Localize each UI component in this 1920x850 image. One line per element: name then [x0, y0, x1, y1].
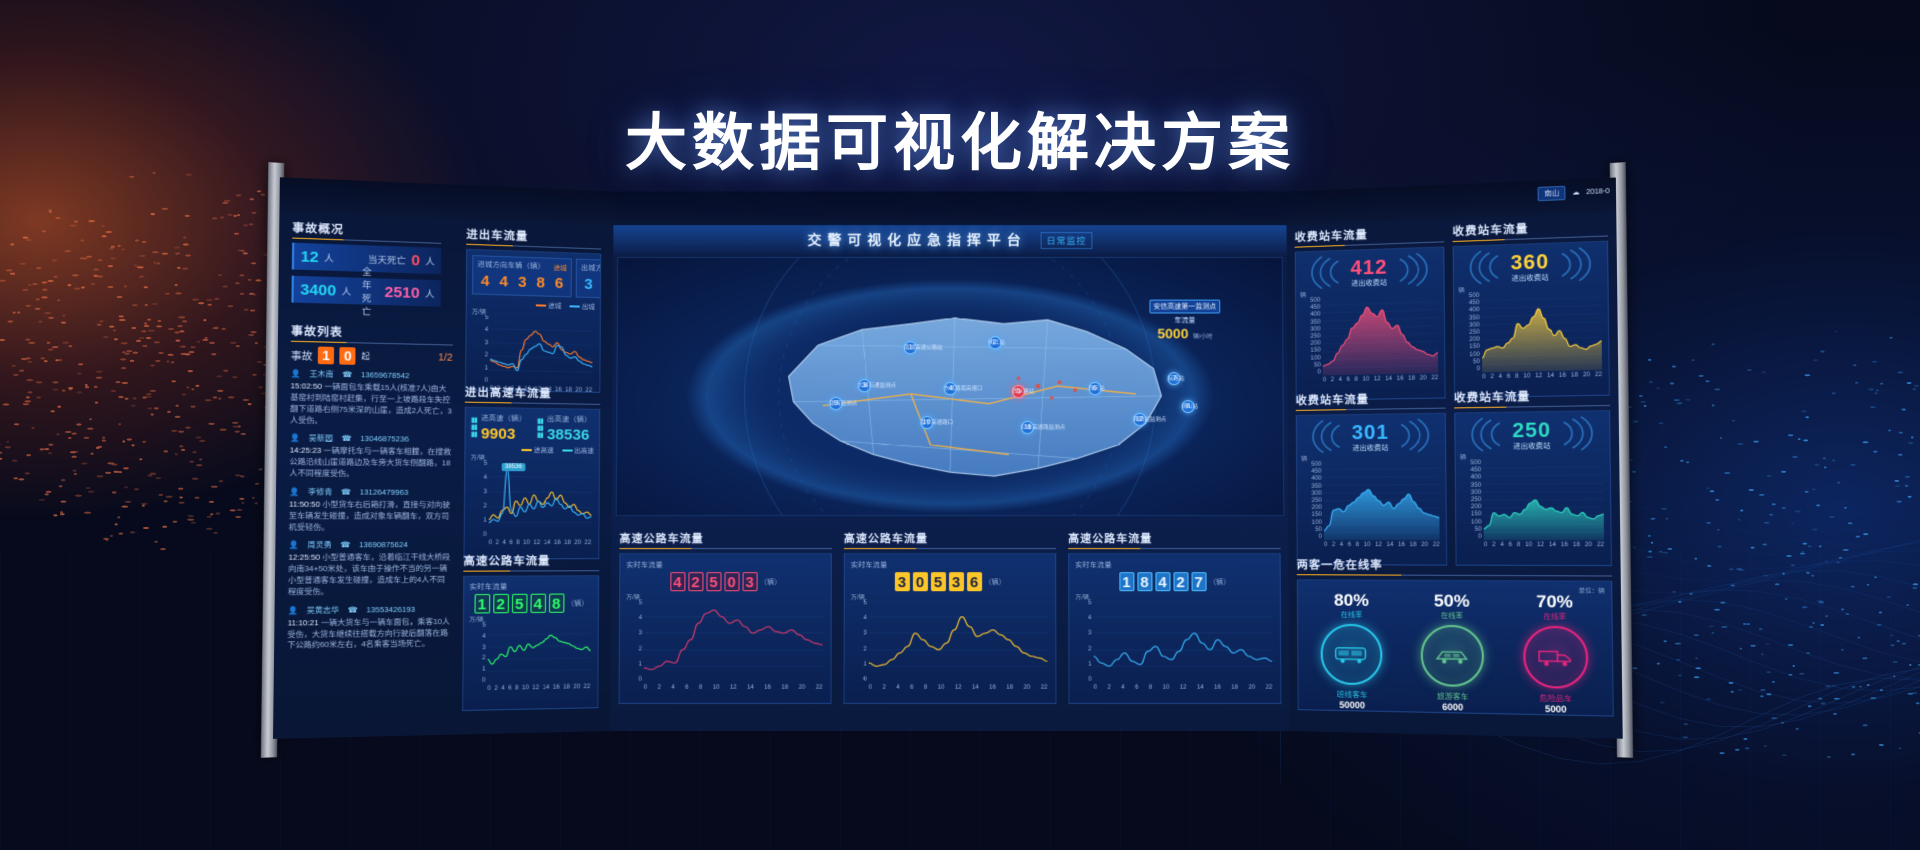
- toll-1-xtick-11: 22: [1595, 372, 1602, 382]
- accident-item-phone-icon-4: ☎: [348, 605, 358, 616]
- inout-legend-0: 进城: [536, 299, 562, 310]
- panel-highway-flow-2: 高速公路车流量 实时车流量 30536 （辆） 万/辆 543210 02468…: [844, 530, 1057, 704]
- toll-3-ytick-1: 450: [1460, 467, 1481, 473]
- highway-flow-0-sub: 实时车流量: [469, 581, 593, 592]
- toll-1-xticks: 0246810121416182022: [1482, 372, 1602, 385]
- panel-highway-inout: 进出高速车流量 ▮▮▮▮▮▮ 进高速（辆） 9903 ▮▮▮▮▮▮ 出高速（辆）…: [463, 383, 600, 559]
- highway-flow-2-unit: （辆）: [985, 577, 1006, 587]
- accident-list-pager[interactable]: 1/2: [438, 352, 453, 363]
- toll-3-ytick-5: 250: [1460, 497, 1481, 503]
- hwf-0-xtick-0: 0: [487, 686, 491, 696]
- hwf-1-xtick-2: 4: [671, 685, 674, 695]
- accident-item-time-3: 12:25:50: [288, 553, 320, 562]
- accident-list-item-4[interactable]: 👤 吴黄志华 ☎ 13553426193 11:10:21 一辆大货车与一辆车面…: [287, 604, 450, 652]
- online-rate-item-2: 70% 在线率 危险品车 5000: [1522, 592, 1588, 715]
- online-rate-unit-note: 单位：辆: [1579, 586, 1605, 596]
- toll-2-sonar-arcs: [1309, 418, 1433, 454]
- highway-flow-1-unit: （辆）: [760, 577, 781, 587]
- accident-item-name-3: 周灵勇: [307, 540, 331, 551]
- toll-0-xtick-0: 0: [1323, 377, 1326, 387]
- online-rate-item-0: 80% 在线率 班线客车 50000: [1321, 590, 1384, 710]
- highway-flow-0-chart: 万/辆 543210 0246810121416182022: [469, 615, 593, 696]
- page-title: 大数据可视化解决方案: [0, 92, 1920, 182]
- highway-flow-0-digit-0: 1: [474, 594, 490, 614]
- toll-2-xtick-6: 12: [1375, 542, 1382, 552]
- online-rate-title: 两客一危在线率: [1297, 556, 1612, 576]
- toll-0-xtick-2: 4: [1339, 377, 1342, 387]
- toll-1-ytick-8: 100: [1459, 351, 1480, 358]
- highway-flow-3-title: 高速公路车流量: [1068, 530, 1280, 549]
- highway-flow-2-digit-3: 3: [949, 572, 964, 591]
- hwf-3-xtick-1: 2: [1107, 685, 1110, 695]
- toll-1-xtick-9: 18: [1571, 372, 1578, 382]
- toll-2-xtick-8: 16: [1398, 542, 1405, 552]
- toll-1-ytick-3: 350: [1459, 315, 1480, 322]
- hwinout-card-glyph-1: ▮▮▮▮▮▮: [537, 418, 543, 439]
- map-point-0[interactable]: 1 南湖高速公路站: [904, 341, 942, 349]
- highway-flow-3-digits: 18427: [1119, 572, 1206, 591]
- highway-flow-0-plot: [487, 622, 590, 684]
- highway-flow-0-title: 高速公路车流量: [463, 552, 599, 572]
- toll-0-sonar-arcs: [1308, 252, 1431, 290]
- toll-0-xtick-5: 10: [1362, 377, 1369, 387]
- toll-0-yticks: 500450400350300250200150100500: [1300, 298, 1321, 376]
- map-point-label-0: 南湖高速公路站: [904, 343, 942, 351]
- pane-middle: 交警可视化应急指挥平台 日常监控: [608, 192, 1291, 732]
- highway-flow-2-digits: 30536: [894, 572, 981, 591]
- highway-flow-2-sub: 实时车流量: [851, 560, 1049, 570]
- truck-icon: [1523, 626, 1588, 689]
- highway-flow-2-digit-4: 6: [967, 572, 982, 591]
- highway-flow-2-yticks: 543210: [851, 600, 867, 682]
- hwf-2-xtick-7: 14: [972, 685, 979, 695]
- hwf-3-ytick-3: 2: [1075, 646, 1091, 652]
- accident-item-name-2: 李修青: [308, 487, 332, 498]
- toll-3-xticks: 0246810121416182022: [1484, 542, 1604, 552]
- toll-2-chart: 辆 500450400350300250200150100500 0246810…: [1301, 454, 1442, 552]
- hwf-3-ytick-2: 3: [1075, 631, 1091, 637]
- toll-0-xtick-8: 16: [1397, 376, 1404, 386]
- toll-0-ytick-2: 400: [1300, 312, 1320, 319]
- map-point-6[interactable]: 7 坛洛站: [1168, 372, 1185, 380]
- hwf-3-xtick-3: 6: [1135, 685, 1138, 695]
- highway-flow-1-line: [644, 600, 823, 682]
- toll-2-ytick-1: 450: [1301, 469, 1321, 475]
- accident-item-name-4: 吴黄志华: [307, 605, 340, 617]
- inout-card-1: 出城方向车辆（辆） 出城 36512: [576, 259, 602, 301]
- toll-2-xtick-2: 4: [1340, 542, 1343, 552]
- panel-highway-flow-0: 高速公路车流量 实时车流量 12548 （辆） 万/辆 543210 02468…: [462, 552, 599, 711]
- toll-0-ytick-5: 250: [1300, 333, 1320, 339]
- hwf-1-xtick-0: 0: [644, 685, 647, 695]
- hwf-3-ytick-1: 4: [1075, 616, 1091, 622]
- location-chip[interactable]: 南山: [1538, 186, 1566, 201]
- toll-3-xtick-3: 6: [1509, 542, 1513, 552]
- highway-flow-0-unit: （辆）: [567, 598, 588, 608]
- toll-2-yticks: 500450400350300250200150100500: [1301, 462, 1322, 540]
- map-point-2[interactable]: 3 大墉石通监测点: [858, 380, 896, 388]
- accident-count: 事故 1 0 起 1/2: [291, 346, 453, 367]
- toll-2-ytick-0: 500: [1301, 462, 1321, 468]
- hwf-1-xtick-3: 6: [685, 685, 688, 695]
- map-point-5[interactable]: 6 良庆站: [1088, 382, 1105, 390]
- hwf-0-xtick-8: 16: [553, 685, 560, 695]
- toll-3-xtick-8: 16: [1561, 542, 1568, 552]
- toll-1-ytick-0: 500: [1458, 293, 1479, 300]
- toll-2-sonar: 301 进出收费站: [1301, 418, 1441, 454]
- accident-item-phone-3: 13690875624: [359, 540, 408, 551]
- map-point-label-8: 银海监测点: [830, 400, 858, 408]
- pane-right: 南山 ☁ 2018-0 收费站车流量 412 进出收费站: [1286, 177, 1623, 738]
- toll-1-ytick-2: 400: [1458, 308, 1479, 315]
- hwf-0-xtick-10: 20: [573, 684, 580, 694]
- inout-card-digits-1: 36512: [581, 275, 601, 297]
- hwf-3-xtick-7: 14: [1197, 685, 1204, 695]
- inout-flow-plot: [490, 315, 593, 386]
- toll-2-ytick-2: 400: [1301, 476, 1321, 482]
- toll-3-sonar-arcs: [1468, 416, 1597, 453]
- hwinout-ytick-2: 3: [470, 489, 487, 495]
- toll-0-xtick-7: 14: [1385, 376, 1392, 386]
- hwinout-card-value-0: 9903: [481, 425, 526, 443]
- hwinout-xtick-8: 16: [554, 540, 561, 550]
- highway-flow-1-digit-1: 2: [688, 572, 703, 591]
- hwf-3-ytick-4: 1: [1075, 661, 1091, 667]
- toll-0-xtick-6: 12: [1374, 376, 1381, 386]
- toll-3-plot: [1483, 459, 1604, 540]
- hwinout-card-value-1: 38536: [547, 426, 592, 444]
- inout-card-digit-0-3: 8: [533, 273, 548, 293]
- hwf-2-xtick-2: 4: [896, 685, 899, 695]
- hwf-1-xtick-7: 14: [747, 685, 754, 695]
- inout-ytick-0: 5: [472, 315, 489, 322]
- panel-highway-flow-3: 高速公路车流量 实时车流量 18427 （辆） 万/辆 543210 02468…: [1068, 530, 1281, 704]
- pane-left: 事故概况 12 人 当天死亡 0 人 3400 人 全年死亡 2510 人 事故…: [273, 177, 614, 739]
- highway-flow-3-digit-1: 8: [1137, 572, 1152, 591]
- hwf-3-xtick-4: 8: [1149, 685, 1152, 695]
- toll-3-xtick-10: 20: [1585, 542, 1592, 552]
- inout-card-tag-0: 进城: [553, 262, 566, 274]
- accident-item-phone-1: 13046875236: [360, 434, 409, 446]
- dashboard-title: 交警可视化应急指挥平台: [808, 230, 1027, 250]
- toll-2-xtick-5: 10: [1364, 542, 1371, 552]
- highway-flow-3-digit-4: 7: [1191, 572, 1206, 591]
- toll-1-xtick-5: 10: [1523, 373, 1530, 383]
- toll-1-xtick-4: 8: [1515, 374, 1519, 384]
- map-point-label-11: 宾阳站监测点: [1133, 415, 1166, 423]
- toll-2-xtick-7: 14: [1387, 542, 1394, 552]
- highway-flow-3-digit-0: 1: [1119, 572, 1134, 591]
- hwf-2-ytick-2: 3: [851, 631, 867, 637]
- accident-item-person-icon-3: 👤: [288, 540, 298, 551]
- toll-3-xtick-11: 22: [1597, 542, 1604, 552]
- accident-item-person-icon-2: 👤: [289, 487, 299, 498]
- hwf-1-xtick-10: 20: [799, 685, 806, 695]
- hwf-2-xtick-10: 20: [1024, 685, 1031, 695]
- toll-1-ytick-5: 250: [1459, 329, 1480, 336]
- highway-flow-2-title: 高速公路车流量: [844, 530, 1056, 549]
- accident-count-unit: 起: [361, 351, 370, 362]
- toll-3-ytick-2: 400: [1460, 475, 1481, 481]
- highway-flow-0-digit-2: 5: [511, 594, 527, 613]
- inout-card-digit-0-1: 4: [496, 272, 512, 292]
- hwf-2-ytick-0: 5: [851, 600, 867, 606]
- highway-flow-2-line: [869, 600, 1048, 682]
- accident-stat-unit-0: 人: [324, 250, 334, 264]
- hwf-0-xtick-3: 6: [508, 685, 512, 695]
- highway-flow-0-digit-3: 4: [530, 594, 546, 613]
- accident-list-item-0[interactable]: 👤 王木南 ☎ 13659678542 15:02:50 一辆面包车乘载15人(…: [290, 369, 453, 429]
- toll-1-xtick-7: 14: [1547, 373, 1554, 383]
- hwinout-xtick-10: 20: [574, 540, 581, 550]
- toll-2-area: [1323, 461, 1439, 541]
- map-point-9[interactable]: 10 邕宁高速路口: [920, 416, 953, 424]
- map-point-1[interactable]: 2 明江站: [988, 336, 1004, 344]
- accident-stat-value2-0: 0: [411, 251, 420, 269]
- toll-2-xtick-3: 6: [1348, 542, 1352, 552]
- toll-3-xtick-4: 8: [1517, 542, 1521, 552]
- map-point-label-10: 红林高速路监测点: [1021, 423, 1065, 431]
- inout-card-digits-0: 44386: [477, 271, 566, 293]
- highway-flow-2-xticks: 0246810121416182022: [869, 685, 1048, 695]
- toll-3-yticks: 500450400350300250200150100500: [1460, 460, 1482, 540]
- highway-flow-1-plot: [644, 600, 823, 682]
- toll-1-ytick-9: 50: [1459, 359, 1480, 366]
- hwf-2-xtick-8: 16: [989, 685, 996, 695]
- panel-highway-flow-1: 高速公路车流量 实时车流量 42503 （辆） 万/辆 543210 02468…: [619, 530, 832, 704]
- mode-button[interactable]: 日常监控: [1041, 232, 1093, 249]
- toll-3-xtick-1: 2: [1492, 542, 1496, 552]
- coach-icon: [1420, 625, 1484, 687]
- hwf-2-ytick-5: 0: [851, 677, 867, 683]
- hwf-0-ytick-0: 5: [469, 623, 486, 629]
- inout-card-digit-0-4: 6: [551, 274, 566, 293]
- hwinout-ytick-0: 5: [471, 461, 488, 467]
- hwinout-xtick-0: 0: [489, 540, 493, 550]
- toll-1-yticks: 500450400350300250200150100500: [1458, 293, 1480, 373]
- map-point-8[interactable]: 9 银海监测点: [830, 398, 858, 406]
- hwf-0-ytick-3: 2: [469, 656, 486, 662]
- highway-flow-0-digits: 12548: [474, 594, 564, 614]
- toll-1-xtick-0: 0: [1482, 374, 1486, 384]
- toll-3-xtick-5: 10: [1525, 542, 1532, 552]
- toll-3-ytick-9: 50: [1460, 526, 1481, 532]
- bus-icon: [1321, 624, 1383, 686]
- map-point-label-6: 坛洛站: [1168, 374, 1185, 382]
- hwf-2-ytick-3: 2: [851, 646, 867, 652]
- hwinout-xtick-9: 18: [564, 540, 571, 550]
- highway-flow-1-digit-2: 5: [706, 572, 721, 591]
- hwinout-xtick-5: 10: [523, 540, 530, 550]
- hwf-1-xtick-5: 10: [713, 685, 720, 695]
- toll-0-ytick-1: 450: [1300, 305, 1320, 312]
- hwf-1-xtick-4: 8: [699, 685, 702, 695]
- map-point-3[interactable]: 4 东葛路南高速口: [944, 382, 982, 390]
- hwf-2-ytick-4: 1: [851, 661, 867, 667]
- inout-card-digit-1-1: 6: [599, 275, 601, 294]
- map-point-7[interactable]: 8 灵山站: [1181, 400, 1198, 408]
- hwf-1-ytick-3: 2: [626, 646, 642, 652]
- hwf-3-xtick-11: 22: [1266, 685, 1273, 695]
- toll-3-ytick-6: 200: [1460, 504, 1481, 510]
- highway-flow-0-digit-1: 2: [493, 594, 509, 613]
- hwf-3-xtick-6: 12: [1180, 685, 1187, 695]
- toll-0-xtick-3: 6: [1347, 377, 1350, 387]
- toll-3-ytick-10: 0: [1461, 534, 1482, 540]
- accident-stat-unit2-0: 人: [425, 254, 435, 268]
- map-point-4[interactable]: 5 西乡塘站: [1012, 385, 1034, 393]
- inout-ytick-3: 2: [471, 352, 488, 358]
- hwinout-ytick-1: 4: [470, 475, 487, 481]
- map-flow-readout: 安信高速第一监测点 车流量 5000 辆/小时: [1149, 296, 1220, 344]
- hwinout-xtick-3: 6: [509, 540, 513, 550]
- toll-0-area: [1322, 294, 1438, 375]
- highway-flow-3-chart: 万/辆 543210 0246810121416182022: [1075, 594, 1274, 695]
- toll-1-xtick-8: 16: [1559, 373, 1566, 383]
- hwf-0-ytick-1: 4: [469, 634, 486, 640]
- hwf-0-xtick-2: 4: [501, 686, 505, 696]
- highway-flow-1-title: 高速公路车流量: [619, 530, 831, 549]
- toll-3-ytick-4: 300: [1460, 490, 1481, 496]
- hwf-3-xtick-10: 20: [1248, 685, 1255, 695]
- panel-accident-list: 事故列表 事故 1 0 起 1/2 👤 王木南 ☎ 13659678542 15…: [287, 322, 453, 707]
- hwf-3-xtick-9: 18: [1231, 685, 1238, 695]
- toll-1-xtick-2: 4: [1499, 374, 1503, 384]
- inout-card-digit-1-0: 3: [581, 275, 596, 294]
- hwf-1-ytick-5: 0: [626, 677, 642, 683]
- highway-inout-title: 进出高速车流量: [465, 383, 601, 405]
- accident-item-name-1: 吴新园: [309, 434, 333, 446]
- toll-0-xticks: 0246810121416182022: [1323, 375, 1438, 387]
- accident-list-item-3[interactable]: 👤 周灵勇 ☎ 13690875624 12:25:50 小型普通客车，沿着临江…: [288, 540, 451, 598]
- toll-1-ytick-4: 300: [1459, 322, 1480, 329]
- toll-3-xtick-7: 14: [1549, 542, 1556, 552]
- accident-item-time-2: 11:50:50: [289, 499, 320, 508]
- highway-inout-chart: 万/辆 543210 38536 0246810121416182022: [470, 455, 594, 551]
- toll-2-ytick-5: 250: [1301, 498, 1321, 504]
- hwinout-card-0: ▮▮▮▮▮▮ 进高速（辆） 9903: [471, 413, 529, 443]
- online-rate-pct-1: 50%: [1420, 591, 1483, 612]
- panel-toll-2: 收费站车流量 301 进出收费站 辆 500450400350300250200…: [1296, 389, 1448, 565]
- toll-0-ytick-6: 200: [1300, 341, 1320, 347]
- highway-flow-3-yticks: 543210: [1075, 600, 1091, 682]
- hwf-3-xtick-5: 10: [1163, 685, 1170, 695]
- inout-ytick-1: 4: [472, 327, 489, 333]
- accident-item-time-4: 11:10:21: [288, 618, 319, 628]
- toll-2-ytick-3: 350: [1301, 483, 1321, 489]
- map-panel[interactable]: 1 南湖高速公路站 2 明江站 3 大墉石通监测点 4 东葛路南高速口 5 西乡…: [616, 257, 1285, 516]
- map-point-10[interactable]: 11 红林高速路监测点: [1021, 421, 1065, 429]
- toll-0-ytick-3: 350: [1300, 319, 1320, 326]
- toll-2-ytick-10: 0: [1302, 534, 1322, 540]
- inout-card-label-0: 进城方向车辆（辆）: [477, 259, 545, 271]
- accident-item-phone-2: 13126479963: [359, 487, 408, 498]
- highway-flow-2-digit-1: 0: [912, 572, 927, 591]
- inout-flow-title: 进出车流量: [466, 226, 601, 250]
- toll-2-xtick-11: 22: [1433, 542, 1440, 552]
- hwinout-xtick-4: 8: [516, 540, 520, 550]
- accident-list-item-1[interactable]: 👤 吴新园 ☎ 13046875236 14:25:23 一辆摩托车与一辆客车相…: [289, 433, 452, 480]
- toll-0-ytick-10: 0: [1301, 369, 1321, 375]
- accident-list-item-2[interactable]: 👤 李修青 ☎ 13126479963 11:50:50 小型货车右后箱打滑，直…: [289, 487, 452, 533]
- inout-legend-1: 出城: [569, 300, 594, 311]
- highway-flow-0-line: [487, 622, 590, 684]
- hwinout-card-label-1: 出高速（辆）: [547, 414, 592, 425]
- online-rate-label-1: 在线率: [1420, 610, 1483, 621]
- toll-3-title: 收费站车流量: [1454, 386, 1610, 408]
- map-point-label-2: 大墉石通监测点: [858, 382, 896, 390]
- toll-2-ytick-6: 200: [1301, 505, 1321, 511]
- hwf-3-ytick-5: 0: [1076, 677, 1092, 683]
- toll-3-sonar: 250 进出收费站: [1459, 415, 1605, 452]
- hwf-0-xtick-6: 12: [532, 685, 539, 695]
- hwf-1-xtick-1: 2: [658, 685, 661, 695]
- hwf-3-ytick-0: 5: [1075, 600, 1091, 606]
- highway-flow-1-digit-4: 3: [742, 572, 757, 591]
- hwf-1-xtick-8: 16: [764, 685, 771, 695]
- toll-2-ytick-8: 100: [1302, 519, 1322, 525]
- hwf-3-xtick-0: 0: [1094, 685, 1097, 695]
- accident-stat-value-0: 12: [301, 248, 319, 266]
- highway-flow-1-yunit: 万/辆: [626, 592, 640, 601]
- online-rate-pct-2: 70%: [1522, 592, 1587, 613]
- toll-3-xtick-0: 0: [1484, 542, 1488, 552]
- map-point-label-5: 良庆站: [1088, 384, 1105, 392]
- hwf-1-ytick-2: 3: [626, 631, 642, 637]
- dashboard-header: 交警可视化应急指挥平台 日常监控: [611, 225, 1288, 255]
- accident-item-time-0: 15:02:50: [290, 381, 322, 391]
- panel-online-rate: 两客一危在线率 单位：辆 80% 在线率 班线客车 50000 50% 在线率 …: [1297, 556, 1614, 717]
- highway-flow-1-digits: 42503: [670, 572, 757, 591]
- hwf-1-ytick-0: 5: [626, 600, 642, 606]
- hwinout-legend-1: 出高速: [562, 444, 594, 454]
- accident-item-phone-4: 13553426193: [366, 605, 415, 617]
- date-display: 2018-0: [1586, 188, 1610, 196]
- toll-2-plot: [1323, 461, 1439, 541]
- toll-3-xtick-2: 4: [1500, 542, 1504, 552]
- map-point-11[interactable]: 12 宾阳站监测点: [1133, 413, 1166, 421]
- accident-stat-row-1: 3400 人 全年死亡 2510 人: [291, 276, 440, 307]
- hwf-0-xtick-11: 22: [583, 684, 590, 694]
- accident-count-digit-2: 0: [340, 347, 357, 365]
- hwinout-ytick-5: 0: [470, 532, 487, 538]
- panel-toll-3: 收费站车流量 250 进出收费站 辆 500450400350300250200…: [1454, 386, 1612, 566]
- accident-item-person-icon-1: 👤: [290, 433, 300, 444]
- map-flow-value: 5000: [1157, 325, 1188, 341]
- accident-item-person-icon-4: 👤: [288, 605, 298, 616]
- highway-flow-2-chart: 万/辆 543210 0246810121416182022: [851, 594, 1050, 695]
- hwf-3-xtick-8: 16: [1214, 685, 1221, 695]
- online-rate-count-0: 50000: [1321, 699, 1383, 710]
- toll-1-xtick-3: 6: [1507, 374, 1511, 384]
- toll-0-xtick-10: 20: [1420, 375, 1427, 385]
- hwf-2-xtick-5: 10: [938, 685, 945, 695]
- online-rate-count-1: 6000: [1421, 701, 1484, 713]
- hwf-2-xtick-4: 8: [924, 685, 927, 695]
- accident-count-label: 事故: [291, 347, 313, 363]
- online-rate-label-0: 在线率: [1321, 610, 1383, 621]
- toll-1-sonar: 360 进出收费站: [1458, 246, 1603, 285]
- highway-flow-0-digit-4: 8: [548, 594, 563, 613]
- map-point-label-1: 明江站: [988, 338, 1004, 346]
- inout-card-digit-0-2: 3: [514, 273, 530, 293]
- toll-0-chart: 辆 500450400350300250200150100500 0246810…: [1300, 288, 1440, 388]
- highway-flow-3-plot: [1093, 600, 1272, 682]
- hwinout-xtick-7: 14: [544, 540, 551, 550]
- hwf-2-ytick-1: 4: [851, 616, 867, 622]
- hwinout-ytick-4: 1: [470, 518, 487, 524]
- highway-flow-3-digit-3: 2: [1173, 572, 1188, 591]
